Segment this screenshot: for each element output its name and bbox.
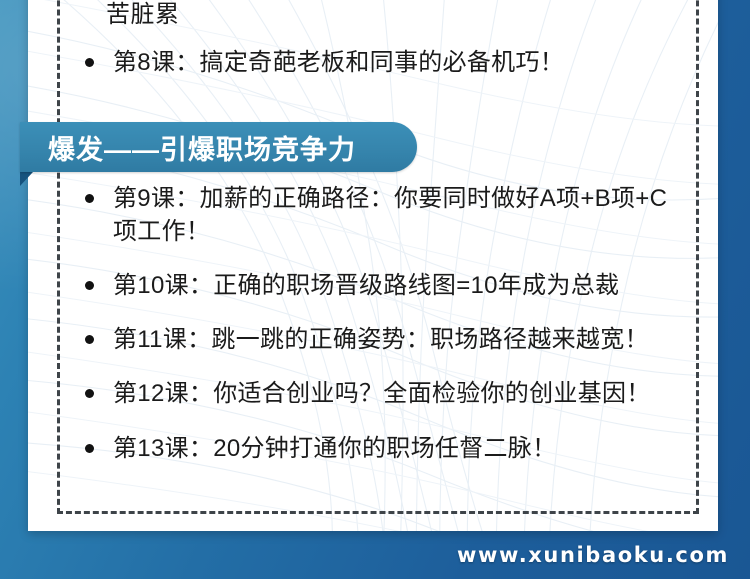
lesson-list-top: 第8课：搞定奇葩老板和同事的必备机巧！: [80, 46, 690, 100]
list-item-label: 第13课：20分钟打通你的职场任督二脉！: [113, 435, 556, 462]
section-ribbon: 爆发——引爆职场竞争力: [20, 122, 417, 172]
list-item: 第11课：跳一跳的正确姿势：职场路径越来越宽！: [80, 323, 690, 356]
ribbon-body: 爆发——引爆职场竞争力: [20, 122, 417, 172]
promo-page: 苦脏累 第8课：搞定奇葩老板和同事的必备机巧！ 第9课：加薪的正确路径：你要同时…: [0, 0, 750, 579]
ribbon-fold-shape: [20, 172, 33, 186]
list-item: 第10课：正确的职场晋级路线图=10年成为总裁: [80, 269, 690, 302]
bullet-dot-icon: [85, 335, 94, 344]
list-item-label: 第8课：搞定奇葩老板和同事的必备机巧！: [113, 49, 564, 76]
bullet-dot-icon: [85, 444, 94, 453]
list-item-label: 第10课：正确的职场晋级路线图=10年成为总裁: [113, 272, 619, 299]
lesson-list-main: 第9课：加薪的正确路径：你要同时做好A项+B项+C项工作！ 第10课：正确的职场…: [80, 182, 690, 486]
bullet-dot-icon: [85, 281, 94, 290]
list-item: 第12课：你适合创业吗？全面检验你的创业基因！: [80, 377, 690, 410]
list-item-label: 第9课：加薪的正确路径：你要同时做好A项+B项+C项工作！: [113, 185, 667, 245]
content-card: 苦脏累 第8课：搞定奇葩老板和同事的必备机巧！ 第9课：加薪的正确路径：你要同时…: [28, 0, 718, 531]
list-item-label: 第11课：跳一跳的正确姿势：职场路径越来越宽！: [113, 326, 649, 353]
bullet-dot-icon: [85, 194, 94, 203]
card-content: 苦脏累 第8课：搞定奇葩老板和同事的必备机巧！ 第9课：加薪的正确路径：你要同时…: [28, 0, 718, 531]
continuation-text: 苦脏累: [106, 0, 180, 30]
list-item: 第9课：加薪的正确路径：你要同时做好A项+B项+C项工作！: [80, 182, 690, 248]
list-item: 第8课：搞定奇葩老板和同事的必备机巧！: [80, 46, 690, 79]
bullet-dot-icon: [85, 389, 94, 398]
list-item: 第13课：20分钟打通你的职场任督二脉！: [80, 432, 690, 465]
ribbon-title: 爆发——引爆职场竞争力: [48, 128, 356, 167]
site-watermark: www.xunibaoku.com: [457, 543, 729, 567]
bullet-dot-icon: [85, 58, 94, 67]
list-item-label: 第12课：你适合创业吗？全面检验你的创业基因！: [113, 380, 651, 407]
